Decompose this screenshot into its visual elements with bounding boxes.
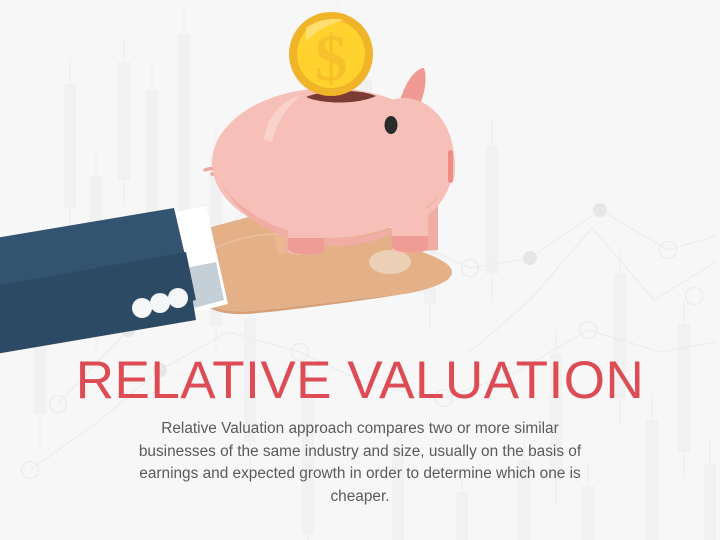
piggy-hoof-shadow-front [288,238,324,255]
page-subtitle: Relative Valuation approach compares two… [126,418,594,508]
sleeve-button-2 [150,293,170,313]
piggy-snout-edge [448,150,453,183]
slide-canvas: $ RELATIVE VALUATION Relative Valuation … [0,0,720,540]
sleeve-button-3 [168,288,188,308]
page-title: RELATIVE VALUATION [0,352,720,410]
piggy-hoof-shadow-rear [392,236,428,253]
suit-sleeve [0,206,228,360]
coin-dollar-symbol: $ [315,22,348,95]
text-block: RELATIVE VALUATION Relative Valuation ap… [0,352,720,508]
gold-dollar-coin: $ [289,12,373,96]
palm-highlight [369,250,411,274]
sleeve-button-1 [132,298,152,318]
piggy-eye [385,116,398,134]
